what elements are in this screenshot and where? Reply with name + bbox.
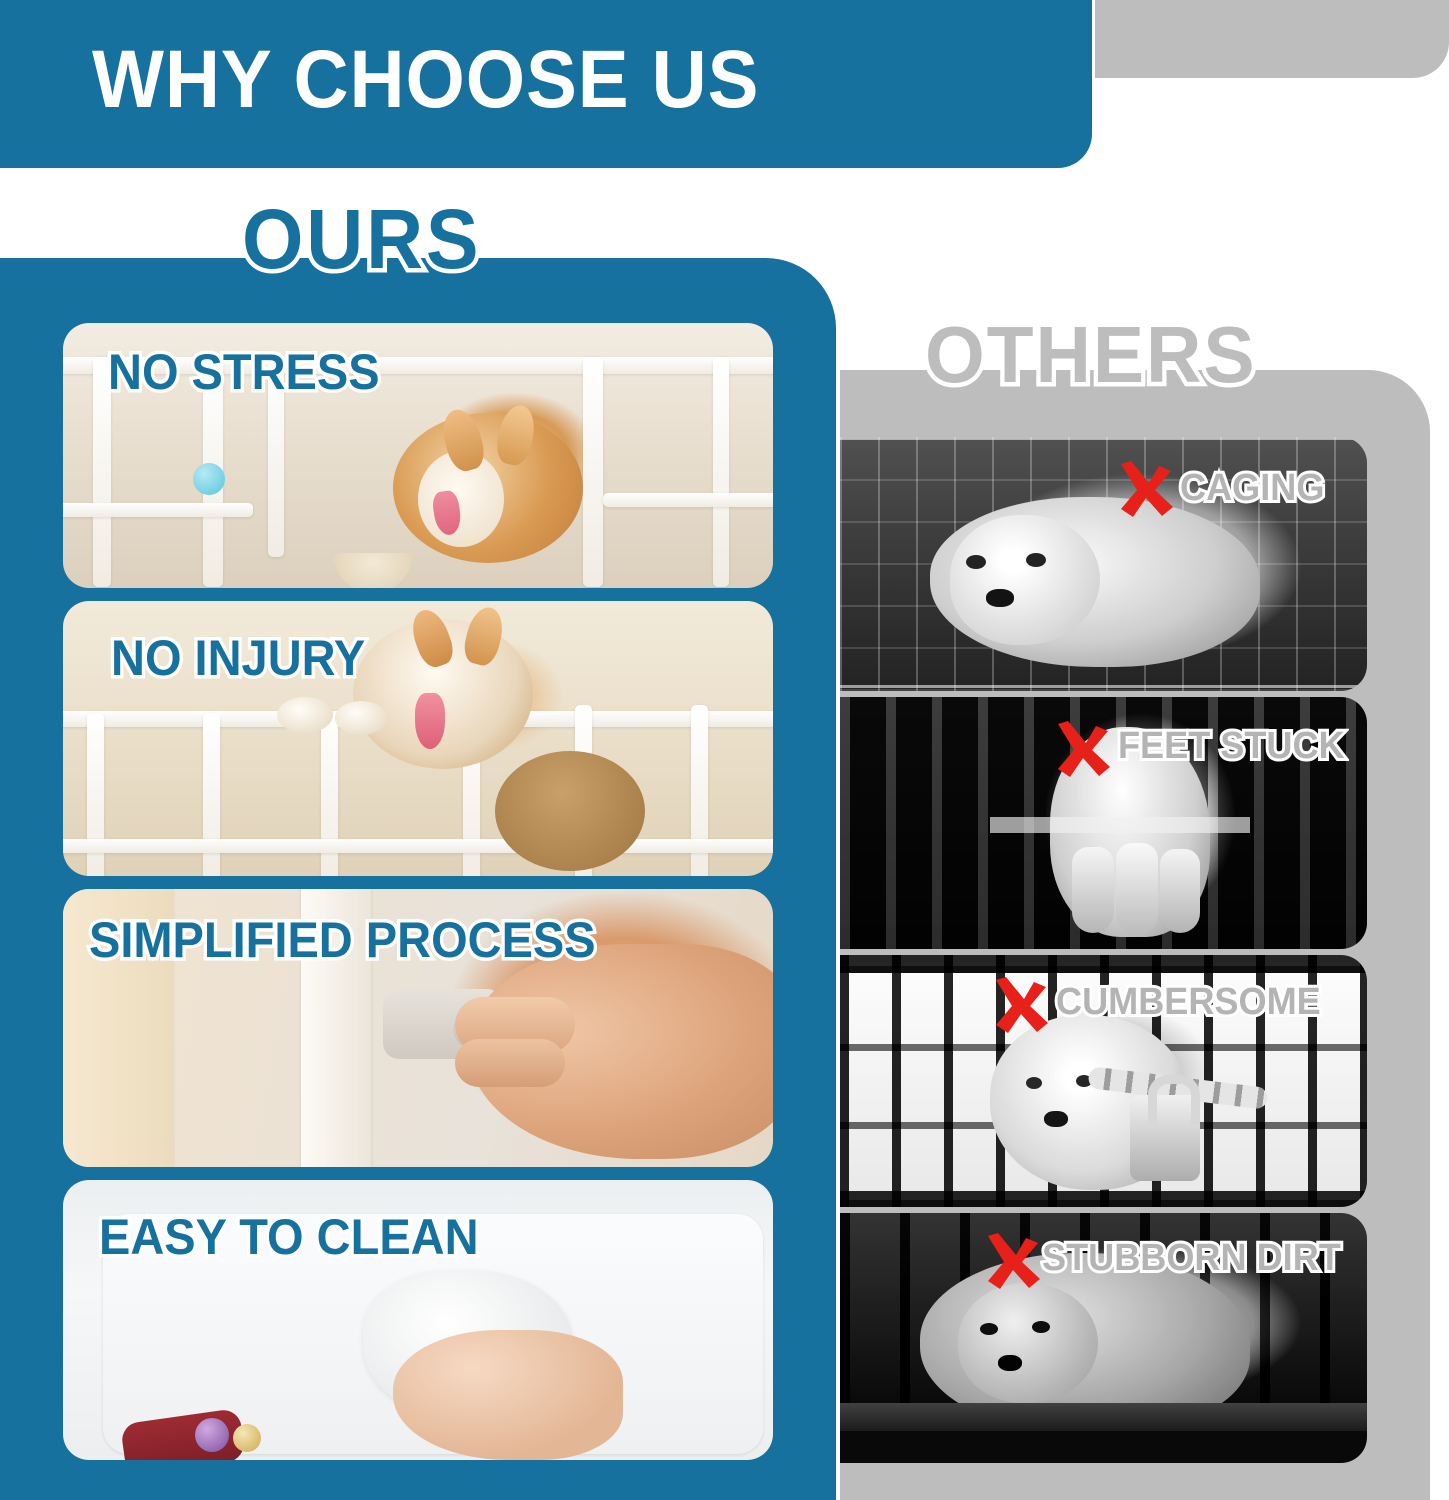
others-card-label-cumbersome: CUMBERSOME xyxy=(1056,983,1321,1021)
page-title: WHY CHOOSE US xyxy=(92,24,985,136)
others-card-cumbersome[interactable]: CUMBERSOME xyxy=(840,955,1367,1207)
red-x-icon xyxy=(982,1231,1044,1293)
ours-card-easy-to-clean[interactable]: EASY TO CLEAN xyxy=(63,1180,773,1460)
red-x-icon xyxy=(1052,719,1114,781)
others-card-feet-stuck[interactable]: FEET STUCK xyxy=(840,697,1367,949)
ours-card-label-easy-to-clean: EASY TO CLEAN xyxy=(99,1212,479,1262)
red-x-icon xyxy=(990,975,1052,1037)
others-card-stubborn-dirt[interactable]: STUBBORN DIRT xyxy=(840,1213,1367,1463)
ours-card-label-no-injury: NO INJURY xyxy=(111,633,365,683)
ours-heading: OURS xyxy=(242,190,481,288)
ours-card-simplified-process[interactable]: SIMPLIFIED PROCESS xyxy=(63,889,773,1167)
red-x-icon xyxy=(1115,459,1177,521)
others-heading: OTHERS xyxy=(925,308,1257,402)
others-card-label-caging: CAGING xyxy=(1180,469,1324,507)
comparison-infographic: WHY CHOOSE US OURS OTHERS NO STRESS xyxy=(0,0,1449,1500)
others-card-label-stubborn-dirt: STUBBORN DIRT xyxy=(1042,1239,1341,1277)
header-bar: WHY CHOOSE US xyxy=(0,0,1092,168)
ours-card-label-simplified-process: SIMPLIFIED PROCESS xyxy=(89,915,596,965)
ours-card-no-injury[interactable]: NO INJURY xyxy=(63,601,773,876)
header-gray-accent-bar xyxy=(1095,0,1449,78)
others-card-caging[interactable]: CAGING xyxy=(840,437,1367,691)
others-card-label-feet-stuck: FEET STUCK xyxy=(1118,727,1345,765)
ours-card-no-stress[interactable]: NO STRESS xyxy=(63,323,773,588)
ours-card-label-no-stress: NO STRESS xyxy=(108,347,380,397)
